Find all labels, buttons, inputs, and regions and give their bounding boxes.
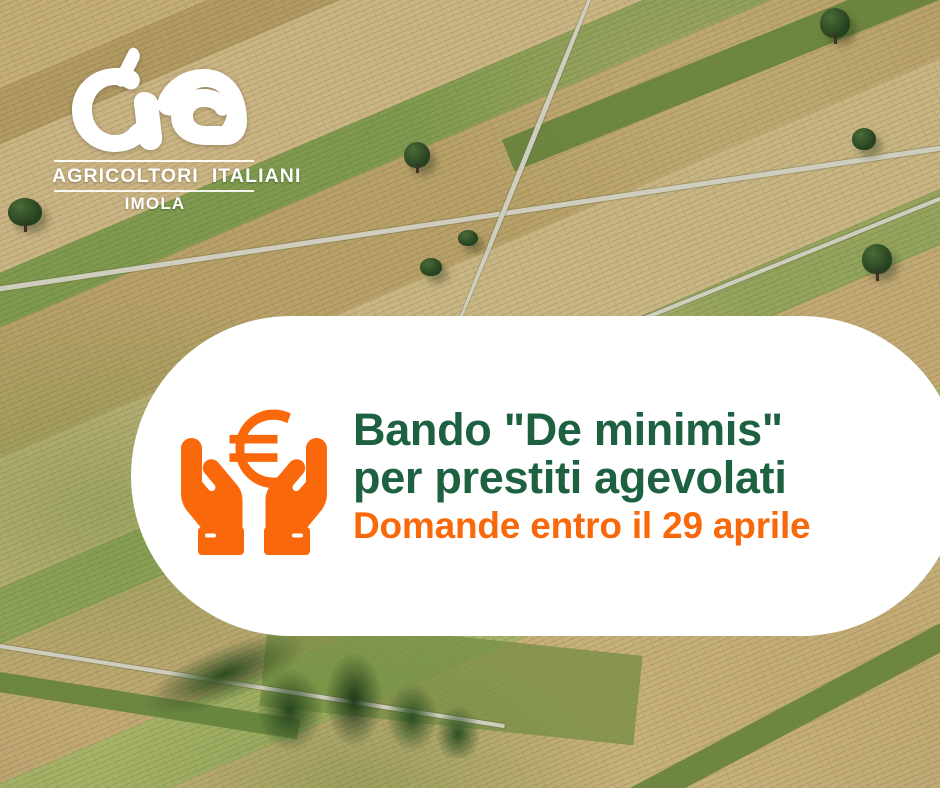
headline-line-2: per prestiti agevolati bbox=[353, 454, 937, 502]
cia-logo: AGRICOLTORI ITALIANI IMOLA bbox=[52, 46, 268, 214]
hands-holding-euro-icon bbox=[169, 391, 339, 561]
headline-line-1: Bando "De minimis" bbox=[353, 406, 937, 454]
poster-canvas: AGRICOLTORI ITALIANI IMOLA bbox=[0, 0, 940, 788]
logo-city-name: IMOLA bbox=[52, 194, 258, 214]
deadline-subline: Domande entro il 29 aprile bbox=[353, 506, 937, 546]
cia-script-logo-icon bbox=[58, 46, 248, 158]
logo-divider-top bbox=[54, 160, 254, 162]
announcement-card: Bando "De minimis" per prestiti agevolat… bbox=[131, 316, 940, 636]
logo-organization-name: AGRICOLTORI ITALIANI bbox=[52, 165, 258, 188]
logo-divider-bottom bbox=[54, 190, 254, 192]
announcement-text-block: Bando "De minimis" per prestiti agevolat… bbox=[353, 406, 940, 546]
